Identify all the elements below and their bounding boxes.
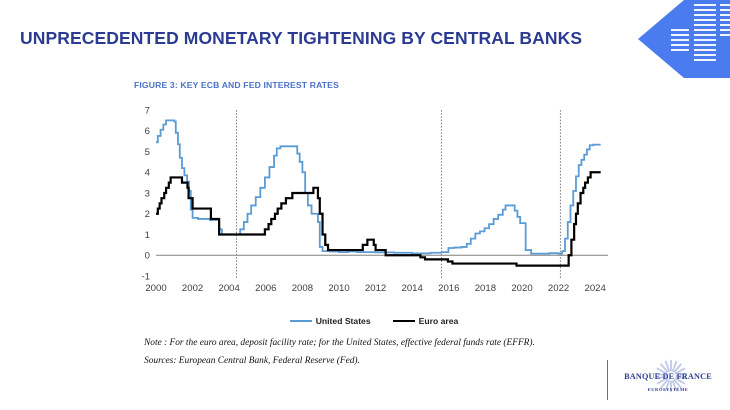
- chart-y-axis-ticks: -101234567: [141, 105, 150, 282]
- x-tick-label: 2008: [292, 283, 313, 294]
- slide-root: UNPRECEDENTED MONETARY TIGHTENING BY CEN…: [0, 0, 730, 410]
- y-tick-label: 7: [145, 105, 150, 116]
- figure-caption: FIGURE 3: KEY ECB AND FED INTEREST RATES: [134, 80, 339, 90]
- legend-item-united-states[interactable]: United States: [290, 316, 371, 326]
- y-tick-label: 2: [145, 209, 150, 220]
- x-tick-label: 2018: [475, 283, 496, 294]
- x-tick-label: 2016: [438, 283, 459, 294]
- chart-series-group: [156, 120, 601, 265]
- x-tick-label: 2010: [328, 283, 349, 294]
- x-tick-label: 2004: [219, 283, 241, 294]
- x-tick-label: 2006: [255, 283, 276, 294]
- x-tick-label: 2002: [182, 283, 203, 294]
- note-text: Note : For the euro area, deposit facili…: [144, 338, 644, 348]
- x-tick-label: 2014: [402, 283, 424, 294]
- y-tick-label: 0: [145, 251, 150, 262]
- x-tick-label: 2020: [511, 283, 532, 294]
- y-tick-label: 4: [145, 168, 151, 179]
- banque-de-france-logo: BANQUE DE FRANCE EUROSYSTÈME: [607, 358, 716, 402]
- logo-subtitle: EUROSYSTÈME: [620, 387, 716, 392]
- legend-label-euro-area: Euro area: [419, 316, 459, 326]
- y-tick-label: -1: [141, 271, 150, 282]
- logo-mark: BANQUE DE FRANCE EUROSYSTÈME: [620, 360, 716, 400]
- page-title: UNPRECEDENTED MONETARY TIGHTENING BY CEN…: [20, 28, 582, 49]
- legend-label-united-states: United States: [316, 316, 371, 326]
- logo-name: BANQUE DE FRANCE: [620, 372, 716, 381]
- sources-text: Sources: European Central Bank, Federal …: [144, 356, 644, 366]
- x-tick-label: 2024: [585, 283, 607, 294]
- y-tick-label: 5: [145, 147, 150, 158]
- chart-x-axis-ticks: 2000200220042006200820102012201420162018…: [145, 283, 606, 294]
- legend-swatch-icon-euro-area: [393, 320, 415, 322]
- legend-swatch-icon-united-states: [290, 320, 312, 322]
- x-tick-label: 2022: [548, 283, 569, 294]
- x-tick-label: 2000: [145, 283, 166, 294]
- chart-legend: United States Euro area: [134, 316, 614, 326]
- chart-canvas: -101234567 20002002200420062008201020122…: [134, 102, 614, 302]
- figure-notes: Note : For the euro area, deposit facili…: [144, 338, 644, 374]
- decorative-chevron: [634, 0, 730, 78]
- logo-divider: [607, 360, 608, 400]
- y-tick-label: 3: [145, 188, 150, 199]
- x-tick-label: 2012: [365, 283, 386, 294]
- y-tick-label: 1: [145, 230, 150, 241]
- legend-item-euro-area[interactable]: Euro area: [393, 316, 459, 326]
- y-tick-label: 6: [145, 126, 150, 137]
- interest-rate-line-chart: -101234567 20002002200420062008201020122…: [134, 102, 614, 302]
